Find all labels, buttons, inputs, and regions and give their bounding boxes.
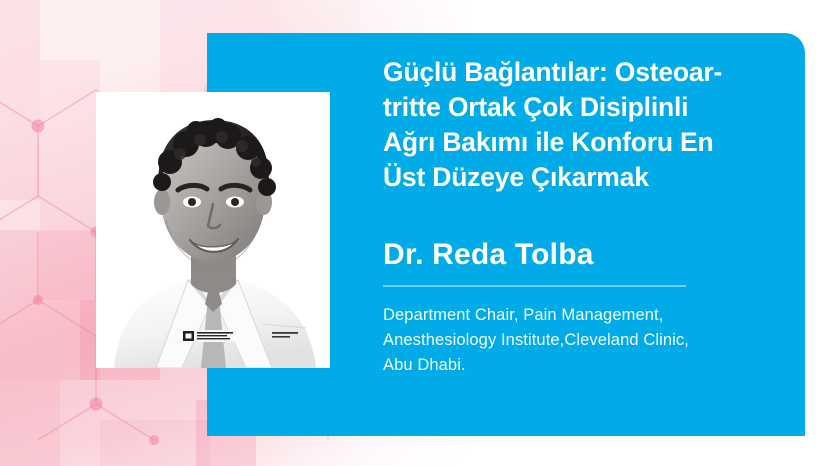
credential-line-3: Abu Dhabi.	[383, 353, 783, 378]
talk-title-line-3: Ağrı Bakımı ile Konforu En	[383, 125, 783, 160]
coat-logo-badge	[182, 330, 234, 342]
talk-title: Güçlü Bağlantılar: Osteoar- tritte Ortak…	[383, 55, 783, 195]
credential-line-2: Anesthesiology Institute,Cleveland Clini…	[383, 328, 783, 353]
talk-title-line-4: Üst Düzeye Çıkarmak	[383, 160, 783, 195]
credential-line-1: Department Chair, Pain Management,	[383, 303, 783, 328]
speaker-name: Dr. Reda Tolba	[383, 237, 783, 273]
speaker-announcement-slide: Güçlü Bağlantılar: Osteoar- tritte Ortak…	[0, 0, 828, 466]
divider-rule	[383, 285, 686, 287]
talk-title-line-1: Güçlü Bağlantılar: Osteoar-	[383, 55, 783, 90]
text-column: Güçlü Bağlantılar: Osteoar- tritte Ortak…	[383, 55, 783, 378]
portrait-illustration	[96, 92, 330, 368]
talk-title-line-2: tritte Ortak Çok Disiplinli	[383, 90, 783, 125]
speaker-photo	[96, 92, 330, 368]
speaker-credentials: Department Chair, Pain Management, Anest…	[383, 303, 783, 378]
